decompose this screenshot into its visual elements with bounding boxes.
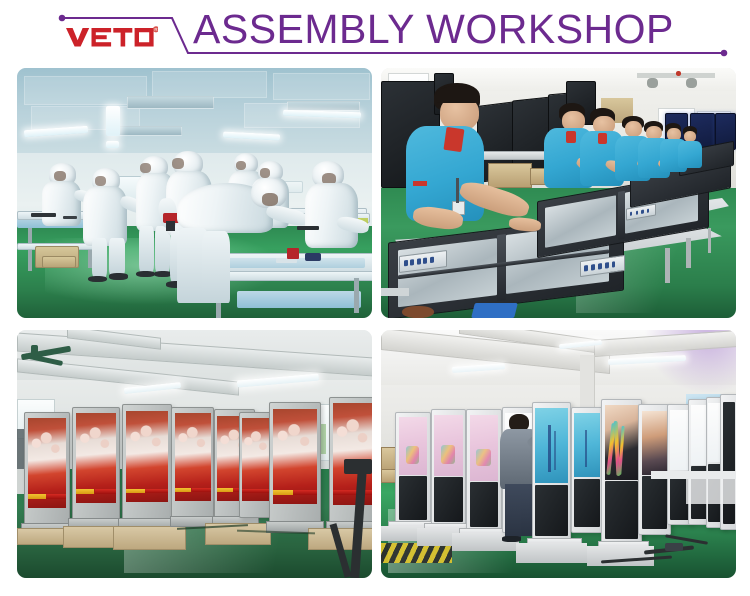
rule-left-dot <box>59 15 66 22</box>
veto-logo-mark: R <box>66 25 158 49</box>
banner-page: R ASSEMBLY WORKSHOP <box>0 0 750 596</box>
photo-signage-burn-in <box>17 330 372 578</box>
photo-cleanroom <box>17 68 372 318</box>
photo-assembly-line <box>381 68 736 318</box>
page-header: R ASSEMBLY WORKSHOP <box>0 0 750 68</box>
page-title: ASSEMBLY WORKSHOP <box>193 6 674 52</box>
photo-kiosk-testing <box>381 330 736 578</box>
svg-text:R: R <box>154 27 157 32</box>
rule-right-dot <box>721 50 728 57</box>
veto-logo[interactable]: R <box>66 25 158 49</box>
registered-trademark-icon: R <box>153 26 158 32</box>
